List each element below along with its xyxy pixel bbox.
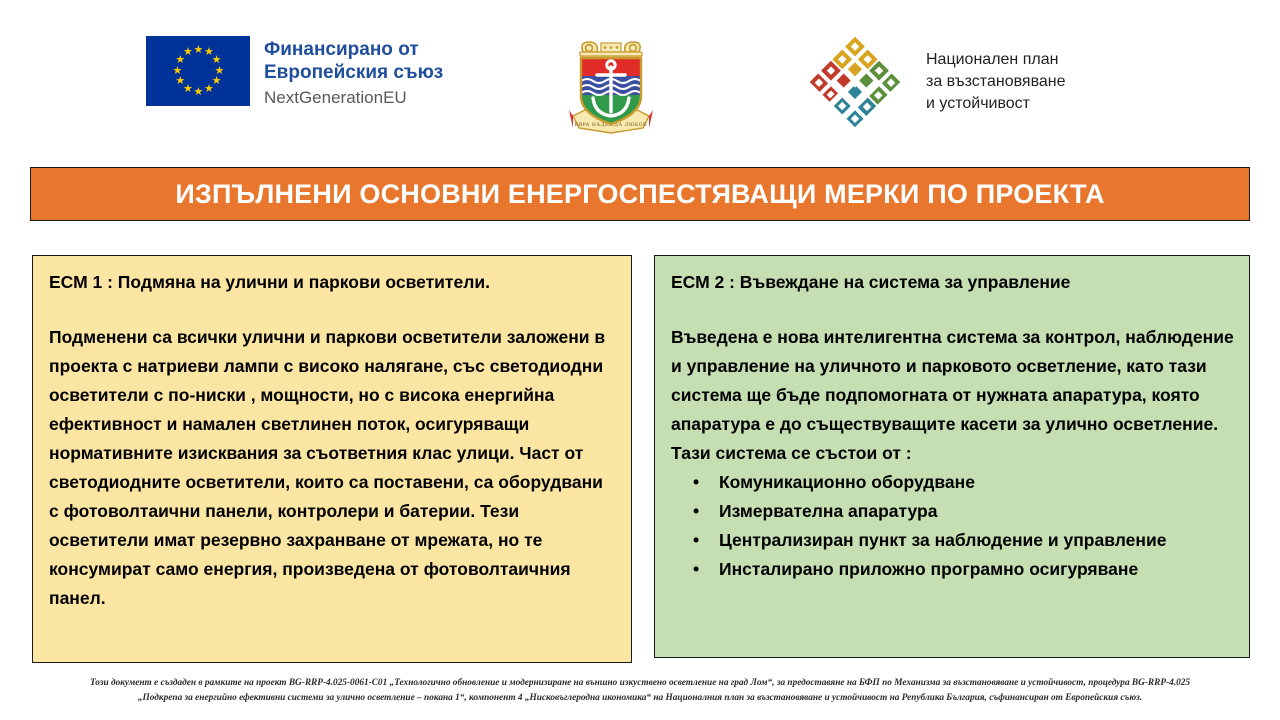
eu-flag-icon: ★★★★★★★★★★★★ [146, 36, 250, 106]
npvu-logo-line2: за възстановяване [926, 71, 1066, 93]
eu-star-icon: ★ [173, 67, 182, 76]
eu-logo-text: Финансирано от Европейския съюз NextGene… [264, 36, 443, 109]
npvu-logo-line1: Национален план [926, 49, 1066, 71]
ecm2-heading: ЕСМ 2 : Въвеждане на система за управлен… [671, 270, 1235, 294]
ecm2-spacer [671, 294, 1235, 323]
eu-funding-logo: ★★★★★★★★★★★★ Финансирано от Европейския … [146, 36, 443, 109]
ecm2-body: Въведена е нова интелигентна система за … [671, 323, 1235, 468]
eu-star-icon: ★ [183, 48, 192, 57]
footer-line-2: „Подкрепа за енергийно ефективни системи… [0, 691, 1280, 706]
npvu-logo-text: Национален план за възстановяване и усто… [926, 49, 1066, 115]
slide-title-banner: ИЗПЪЛНЕНИ ОСНОВНИ ЕНЕРГОСПЕСТЯВАЩИ МЕРКИ… [30, 167, 1250, 221]
ecm2-bullet-item: Комуникационно оборудване [693, 468, 1235, 497]
logo-strip: ★★★★★★★★★★★★ Финансирано от Европейския … [0, 0, 1280, 160]
ecm1-body: Подменени са всички улични и паркови осв… [49, 323, 617, 613]
ecm2-bullet-item: Измервателна апаратура [693, 497, 1235, 526]
ecm2-bullet-list: Комуникационно оборудванеИзмервателна ап… [671, 468, 1235, 584]
ecm1-spacer [49, 294, 617, 323]
npvu-logo: Национален план за възстановяване и усто… [800, 32, 1066, 132]
ecm1-panel: ЕСМ 1 : Подмяна на улични и паркови осве… [32, 255, 632, 663]
eu-star-icon: ★ [212, 56, 221, 65]
eu-logo-line2: Европейския съюз [264, 61, 443, 84]
lom-coat-of-arms-icon: ВЯРА НАДЕЖДА ЛЮБОВ [565, 30, 657, 142]
footer-line-1: Този документ е създаден в рамките на пр… [0, 676, 1280, 691]
eu-star-icon: ★ [194, 46, 203, 55]
slide-title: ИЗПЪЛНЕНИ ОСНОВНИ ЕНЕРГОСПЕСТЯВАЩИ МЕРКИ… [175, 179, 1104, 210]
ecm1-heading: ЕСМ 1 : Подмяна на улични и паркови осве… [49, 270, 617, 294]
eu-star-icon: ★ [204, 85, 213, 94]
npvu-logo-line3: и устойчивост [926, 93, 1066, 115]
eu-star-icon: ★ [175, 77, 184, 86]
footer-disclaimer: Този документ е създаден в рамките на пр… [0, 676, 1280, 706]
eu-logo-line1: Финансирано от [264, 38, 443, 61]
eu-logo-line3: NextGenerationEU [264, 87, 443, 109]
ecm2-panel: ЕСМ 2 : Въвеждане на система за управлен… [654, 255, 1250, 658]
eu-star-icon: ★ [194, 88, 203, 97]
ecm2-bullet-item: Централизиран пункт за наблюдение и упра… [693, 526, 1235, 555]
ecm2-bullet-item: Инсталирано приложно програмно осигурява… [693, 555, 1235, 584]
npvu-diamond-icon [800, 32, 910, 132]
